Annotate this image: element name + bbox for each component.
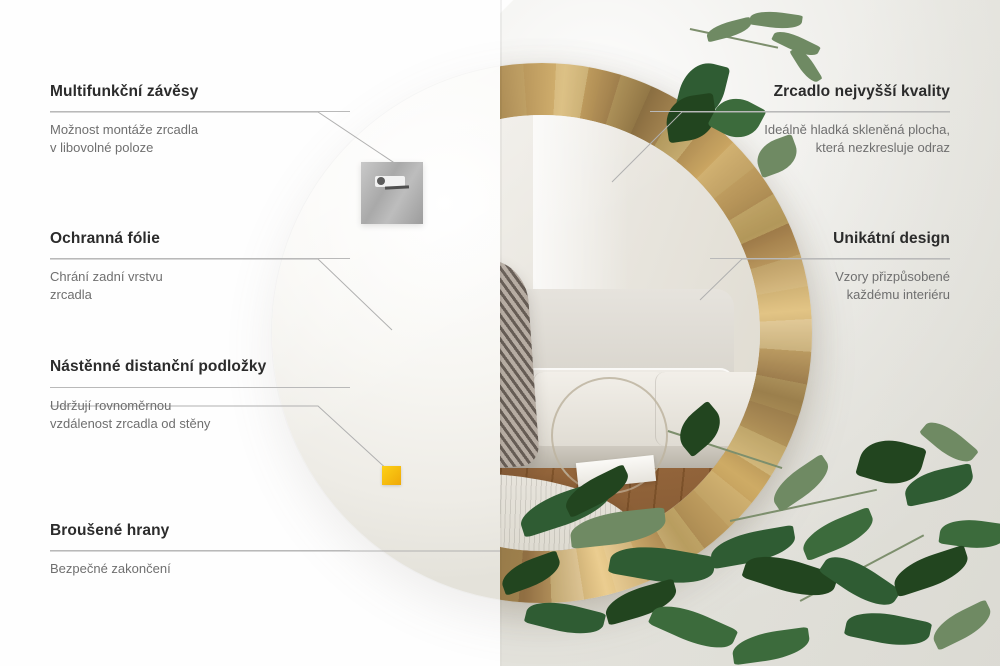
callout-desc-line: která nezkresluje odraz xyxy=(650,139,950,157)
callout-multifunkcni-zavesy: Multifunkční závěsy Možnost montáže zrca… xyxy=(50,82,350,158)
callout-desc-line: Možnost montáže zrcadla xyxy=(50,121,350,139)
infographic-canvas: Multifunkční závěsy Možnost montáže zrca… xyxy=(0,0,1000,666)
callout-title: Ochranná fólie xyxy=(50,229,350,249)
callout-desc-line: každému interiéru xyxy=(710,286,950,304)
callout-desc-line: Ideálně hladká skleněná plocha, xyxy=(650,121,950,139)
keyhole-hanger-detail xyxy=(361,162,423,224)
callout-desc-line: vzdálenost zrcadla od stěny xyxy=(50,415,350,433)
callout-title: Nástěnné distanční podložky xyxy=(50,357,280,377)
callout-nastenne-distancni-podlozky: Nástěnné distanční podložky Udržují rovn… xyxy=(50,357,350,434)
callout-desc-line: Udržují rovnoměrnou xyxy=(50,397,350,415)
callout-brousene-hrany: Broušené hrany Bezpečné zakončení xyxy=(50,521,350,578)
hanger-slot-tail xyxy=(385,185,409,189)
callout-ochranna-folie: Ochranná fólie Chrání zadní vrstvu zrcad… xyxy=(50,229,350,305)
callout-zrcadlo-nejvyssi-kvality: Zrcadlo nejvyšší kvality Ideálně hladká … xyxy=(650,82,950,158)
callout-desc-line: v libovolné poloze xyxy=(50,139,350,157)
callout-rule xyxy=(650,111,950,112)
callout-desc-line: Bezpečné zakončení xyxy=(50,560,350,578)
callout-title: Zrcadlo nejvyšší kvality xyxy=(650,82,950,102)
callout-desc-line: zrcadla xyxy=(50,286,350,304)
mirror-glass xyxy=(500,115,760,551)
panel-divider xyxy=(500,0,502,666)
callout-unikatni-design: Unikátní design Vzory přizpůsobené každé… xyxy=(710,229,950,305)
callout-rule xyxy=(50,111,350,112)
callout-rule xyxy=(50,550,350,551)
callout-desc-line: Chrání zadní vrstvu xyxy=(50,268,350,286)
callout-desc-line: Vzory přizpůsobené xyxy=(710,268,950,286)
callout-rule xyxy=(50,258,350,259)
hanger-keyhole xyxy=(377,177,385,185)
yellow-spacer-pad xyxy=(382,466,401,485)
callout-rule xyxy=(710,258,950,259)
callout-title: Multifunkční závěsy xyxy=(50,82,350,102)
callout-title: Unikátní design xyxy=(710,229,950,249)
callout-rule xyxy=(50,387,350,388)
callout-title: Broušené hrany xyxy=(50,521,350,541)
